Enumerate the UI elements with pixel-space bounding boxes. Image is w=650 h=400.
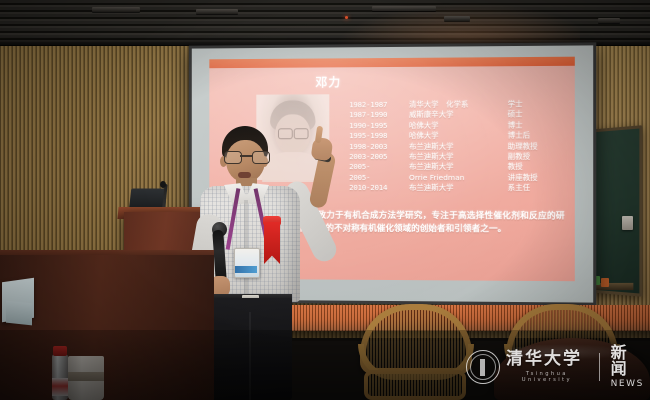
ceiling-vent: [196, 9, 238, 14]
slide-cv-row: 2005-布兰迪斯大学教授: [349, 162, 566, 173]
cv-rank: 学士: [508, 99, 567, 110]
slide-title: 邓力: [315, 73, 341, 90]
slide-cv-table: 1982-1987清华大学 化学系学士1987-1990威斯康辛大学硕士1990…: [349, 99, 566, 194]
speaker-glasses: [224, 151, 268, 162]
cv-years: 1987-1990: [349, 110, 409, 121]
paper-cup-band: [68, 372, 104, 381]
ceiling-vent: [92, 7, 140, 12]
slide-accent-band: [209, 57, 574, 69]
cv-institution: 清华大学 化学系: [409, 99, 508, 110]
cv-institution: 布兰迪斯大学: [409, 162, 508, 172]
cv-rank: 博士后: [508, 131, 567, 142]
cv-rank: 系主任: [508, 183, 567, 194]
glasses-lens-right: [252, 151, 270, 164]
ceiling-soffit: [0, 0, 650, 46]
water-bottle-label: [52, 378, 68, 396]
chalk-box: [601, 278, 609, 287]
ceiling-indicator-led: [345, 16, 348, 19]
speaker-pointing-hand: [311, 137, 334, 162]
cv-institution: Orrie Friedman: [409, 173, 508, 183]
cv-rank: 教授: [508, 162, 567, 173]
cv-years: 1998-2003: [349, 142, 409, 153]
cv-institution: 哈佛大学: [409, 131, 508, 142]
ceiling-vent: [598, 18, 620, 23]
round-table: [494, 338, 650, 400]
chair-seat: [364, 370, 466, 400]
cv-institution: 布兰迪斯大学: [409, 183, 508, 194]
cv-years: 2010-2014: [349, 183, 409, 193]
gooseneck-microphone-head: [160, 181, 166, 188]
cv-years: 1982-1987: [349, 100, 409, 111]
cv-rank: 博士: [508, 120, 567, 131]
badge-photo-strip: [235, 266, 257, 273]
ceiling-light-glow: [330, 2, 580, 46]
cv-years: 2005-: [349, 173, 409, 183]
cv-institution: 哈佛大学: [409, 120, 508, 131]
slide-cv-row: 2003-2005布兰迪斯大学副教授: [349, 152, 566, 163]
cv-years: 2003-2005: [349, 152, 409, 162]
slide-cv-row: 1990-1995哈佛大学博士: [349, 120, 566, 131]
cv-years: 1990-1995: [349, 121, 409, 132]
cv-rank: 讲座教授: [508, 173, 567, 184]
slide-cv-row: 1987-1990威斯康辛大学硕士: [349, 110, 566, 121]
cv-rank: 副教授: [508, 152, 567, 163]
table-reflection: [504, 344, 634, 360]
slide-cv-row: 1998-2003布兰迪斯大学助理教授: [349, 141, 566, 152]
cv-years: 2005-: [349, 162, 409, 172]
cv-years: 1995-1998: [349, 131, 409, 142]
cv-institution: 布兰迪斯大学: [409, 141, 508, 152]
water-bottle-cap: [53, 346, 67, 356]
rattan-armchair: [352, 304, 470, 400]
slide-cv-row: 2005-Orrie Friedman讲座教授: [349, 173, 566, 184]
glasses-bridge: [240, 155, 252, 157]
cv-rank: 硕士: [508, 110, 567, 121]
light-switch[interactable]: [622, 216, 633, 230]
foreground-cabinet: [0, 255, 214, 400]
conference-badge: [234, 248, 260, 278]
glasses-lens-left: [224, 151, 242, 164]
slide-cv-row: 2010-2014布兰迪斯大学系主任: [349, 183, 566, 194]
cv-institution: 威斯康辛大学: [409, 110, 508, 121]
trouser-seam: [249, 312, 251, 400]
paper-stack-secondary: [6, 301, 32, 326]
ceiling-vent: [372, 6, 436, 11]
slide-cv-row: 1995-1998哈佛大学博士后: [349, 131, 566, 142]
ceiling-vent: [444, 16, 470, 21]
cv-rank: 助理教授: [508, 141, 567, 152]
lecture-photo-scene: 邓力 1982-1987清华大学 化学系学士1987-1990威斯康辛大学硕士1…: [0, 0, 650, 400]
cv-institution: 布兰迪斯大学: [409, 152, 508, 163]
